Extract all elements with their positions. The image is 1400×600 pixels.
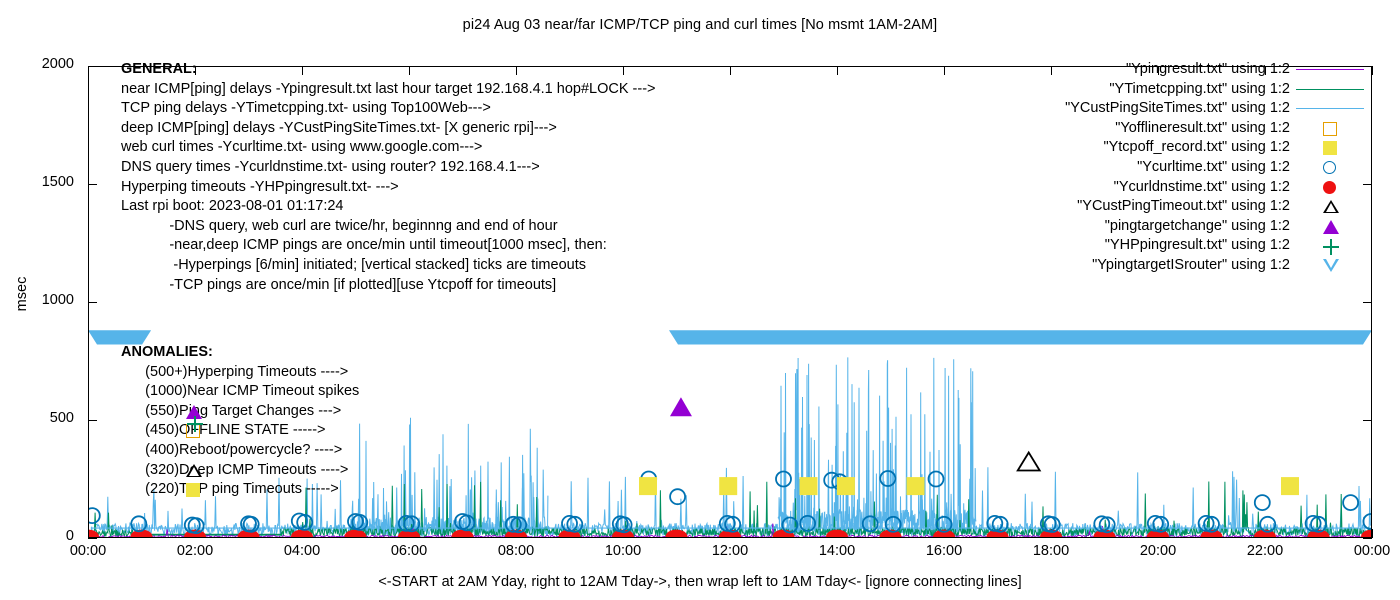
legend-entry: "Yofflineresult.txt" using 1:2 — [1000, 119, 1290, 139]
anomaly-label: (220)TCP ping Timeouts -----> — [121, 481, 339, 497]
general-annotation-block: GENERAL:near ICMP[ping] delays -Ypingres… — [121, 60, 656, 295]
page-title: pi24 Aug 03 near/far ICMP/TCP ping and c… — [0, 17, 1400, 33]
general-line: Hyperping timeouts -YHPpingresult.txt- -… — [121, 178, 656, 198]
legend-symbol — [1296, 256, 1376, 276]
anomaly-row: (400)Reboot/powercycle? ----> — [121, 441, 359, 461]
legend-line-sample — [1296, 108, 1364, 109]
anomaly-marker — [120, 461, 142, 481]
square-open-icon — [1323, 122, 1337, 136]
y-tick-label: 1500 — [8, 175, 74, 190]
general-line: Last rpi boot: 2023-08-01 01:17:24 — [121, 197, 656, 217]
anomaly-label: (400)Reboot/powercycle? ----> — [121, 442, 342, 458]
triangle-up-open-icon — [186, 464, 202, 477]
anomaly-row: (220)TCP ping Timeouts -----> — [121, 480, 359, 500]
y-tick-label: 0 — [8, 529, 74, 544]
legend-symbol — [1296, 217, 1376, 237]
legend-symbols — [1296, 60, 1376, 276]
legend-entry: "Ypingresult.txt" using 1:2 — [1000, 60, 1290, 80]
y-tick-mark — [1363, 538, 1372, 539]
x-tick-label: 00:00 — [1337, 543, 1400, 559]
legend-symbol — [1296, 99, 1376, 119]
legend-line-sample — [1296, 89, 1364, 90]
general-line: TCP ping delays -YTimetcpping.txt- using… — [121, 99, 656, 119]
general-line: deep ICMP[ping] delays -YCustPingSiteTim… — [121, 119, 656, 139]
legend-symbol — [1296, 197, 1376, 217]
general-line: -Hyperpings [6/min] initiated; [vertical… — [121, 256, 656, 276]
x-tick-label: 08:00 — [481, 543, 551, 559]
x-tick-label: 20:00 — [1123, 543, 1193, 559]
legend-entry: "YCustPingTimeout.txt" using 1:2 — [1000, 197, 1290, 217]
anomaly-marker — [120, 480, 142, 500]
anomaly-row: (500+)Hyperping Timeouts ----> — [121, 363, 359, 383]
legend-entry: "Ycurldnstime.txt" using 1:2 — [1000, 178, 1290, 198]
legend-entry: "YCustPingSiteTimes.txt" using 1:2 — [1000, 99, 1290, 119]
legend-entry: "pingtargetchange" using 1:2 — [1000, 217, 1290, 237]
square-filled-icon — [1323, 141, 1337, 155]
x-tick-label: 14:00 — [802, 543, 872, 559]
anomaly-row: (450)OFFLINE STATE -----> — [121, 421, 359, 441]
anomaly-row: (320)Deep ICMP Timeouts ----> — [121, 461, 359, 481]
circle-filled-icon — [1323, 181, 1336, 194]
legend-entry: "Ytcpoff_record.txt" using 1:2 — [1000, 138, 1290, 158]
legend-entry: "Ycurltime.txt" using 1:2 — [1000, 158, 1290, 178]
x-tick-mark — [1372, 529, 1373, 538]
plus-icon — [1323, 239, 1339, 255]
anomaly-row: (1000)Near ICMP Timeout spikes — [121, 382, 359, 402]
anomalies-annotation-block: ANOMALIES: (500+)Hyperping Timeouts ----… — [121, 343, 359, 500]
legend-symbol — [1296, 138, 1376, 158]
general-line: near ICMP[ping] delays -Ypingresult.txt … — [121, 80, 656, 100]
y-tick-label: 2000 — [8, 57, 74, 72]
anomaly-marker — [120, 421, 142, 441]
anomalies-heading: ANOMALIES: — [121, 343, 359, 363]
legend-entry: "YTimetcpping.txt" using 1:2 — [1000, 80, 1290, 100]
anomaly-label: (550)Ping Target Changes ---> — [121, 403, 341, 419]
square-filled-icon — [186, 483, 200, 497]
general-line: web curl times -Ycurltime.txt- using www… — [121, 138, 656, 158]
general-heading: GENERAL: — [121, 60, 656, 80]
legend-entry: "YHPpingresult.txt" using 1:2 — [1000, 236, 1290, 256]
triangle-up-filled-icon — [1323, 220, 1339, 234]
y-tick-label: 1000 — [8, 293, 74, 308]
anomaly-marker — [120, 402, 142, 422]
legend-symbol — [1296, 60, 1376, 80]
x-tick-label: 06:00 — [374, 543, 444, 559]
legend-symbol — [1296, 236, 1376, 256]
y-tick-mark — [88, 538, 97, 539]
general-line: -DNS query, web curl are twice/hr, begin… — [121, 217, 656, 237]
x-tick-label: 12:00 — [695, 543, 765, 559]
triangle-down-open-icon — [1323, 259, 1339, 272]
x-tick-label: 18:00 — [1016, 543, 1086, 559]
legend-line-sample — [1296, 69, 1364, 70]
general-line: -TCP pings are once/min [if plotted][use… — [121, 276, 656, 296]
legend-symbol — [1296, 119, 1376, 139]
anomaly-label: (1000)Near ICMP Timeout spikes — [121, 383, 359, 399]
y-tick-label: 500 — [8, 411, 74, 426]
x-tick-label: 04:00 — [267, 543, 337, 559]
x-tick-label: 02:00 — [160, 543, 230, 559]
x-tick-label: 10:00 — [588, 543, 658, 559]
x-tick-label: 00:00 — [53, 543, 123, 559]
anomaly-label: (320)Deep ICMP Timeouts ----> — [121, 462, 348, 478]
legend-entry: "YpingtargetISrouter" using 1:2 — [1000, 256, 1290, 276]
chart-page: pi24 Aug 03 near/far ICMP/TCP ping and c… — [0, 0, 1400, 600]
anomaly-label: (450)OFFLINE STATE -----> — [121, 422, 326, 438]
triangle-up-open-icon — [1323, 200, 1339, 213]
legend-labels: "Ypingresult.txt" using 1:2"YTimetcpping… — [1000, 60, 1290, 276]
anomaly-row: (550)Ping Target Changes ---> — [121, 402, 359, 422]
x-tick-label: 22:00 — [1230, 543, 1300, 559]
legend-symbol — [1296, 80, 1376, 100]
general-line: DNS query times -Ycurldnstime.txt- using… — [121, 158, 656, 178]
legend-symbol — [1296, 158, 1376, 178]
anomaly-label: (500+)Hyperping Timeouts ----> — [121, 364, 348, 380]
circle-open-icon — [1323, 161, 1336, 174]
legend-symbol — [1296, 178, 1376, 198]
general-line: -near,deep ICMP pings are once/min until… — [121, 236, 656, 256]
x-tick-label: 16:00 — [909, 543, 979, 559]
plus-icon — [187, 416, 203, 432]
x-axis-caption: <-START at 2AM Yday, right to 12AM Tday-… — [0, 574, 1400, 590]
